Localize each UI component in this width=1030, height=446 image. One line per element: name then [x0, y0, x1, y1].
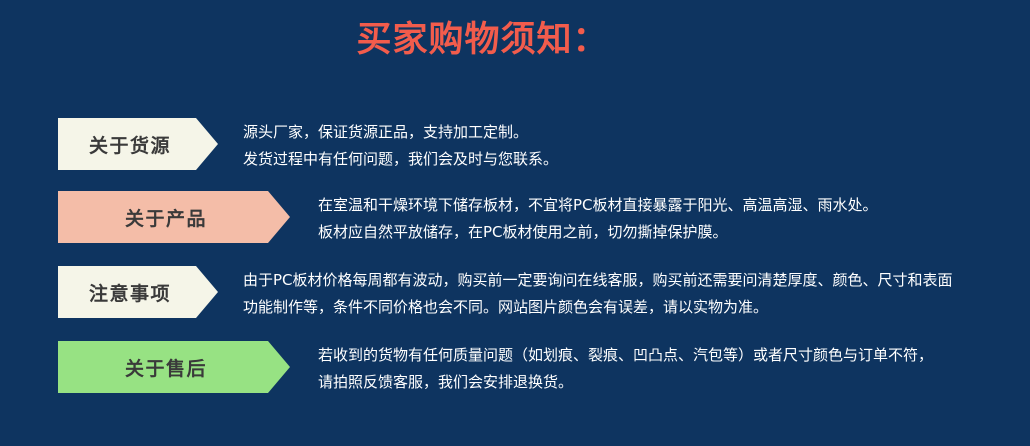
- section-label-text: 注意事项: [89, 279, 187, 306]
- body-text-line: 源头厂家，保证货源正品，支持加工定制。: [243, 119, 558, 146]
- notice-section: 关于售后 若收到的货物有任何质量问题（如划痕、裂痕、凹凸点、汽包等）或者尺寸颜色…: [0, 335, 1030, 407]
- section-label-banner-attention: 注意事项: [58, 266, 218, 318]
- section-body-text: 在室温和干燥环境下储存板材，不宜将PC板材直接暴露于阳光、高温高湿、雨水处。 板…: [318, 191, 878, 246]
- section-label-banner-aftersales: 关于售后: [58, 341, 290, 393]
- notice-section: 关于产品 在室温和干燥环境下储存板材，不宜将PC板材直接暴露于阳光、高温高湿、雨…: [0, 185, 1030, 257]
- notice-sections-list: 关于货源 源头厂家，保证货源正品，支持加工定制。 发货过程中有任何问题，我们会及…: [0, 110, 1030, 410]
- section-label-text: 关于货源: [89, 131, 187, 158]
- body-text-line: 在室温和干燥环境下储存板材，不宜将PC板材直接暴露于阳光、高温高湿、雨水处。: [318, 192, 878, 219]
- page-title: 买家购物须知：: [356, 18, 608, 62]
- notice-section-row: 注意事项 由于PC板材价格每周都有波动，购买前一定要询问在线客服，购买前还需要问…: [0, 266, 953, 321]
- title-area: 买家购物须知：: [0, 18, 1030, 62]
- body-text-line: 若收到的货物有任何质量问题（如划痕、裂痕、凹凸点、汽包等）或者尺寸颜色与订单不符…: [318, 342, 933, 369]
- notice-section-row: 关于售后 若收到的货物有任何质量问题（如划痕、裂痕、凹凸点、汽包等）或者尺寸颜色…: [0, 341, 933, 396]
- notice-section: 关于货源 源头厂家，保证货源正品，支持加工定制。 发货过程中有任何问题，我们会及…: [0, 110, 1030, 182]
- section-label-banner-product: 关于产品: [58, 191, 290, 243]
- notice-section: 注意事项 由于PC板材价格每周都有波动，购买前一定要询问在线客服，购买前还需要问…: [0, 260, 1030, 332]
- section-label-banner-source: 关于货源: [58, 118, 218, 170]
- buyer-notice-banner: 买家购物须知： 关于货源 源头厂家，保证货源正品，支持加工定制。 发货过程中有任…: [0, 0, 1030, 446]
- body-text-line: 请拍照反馈客服，我们会安排退换货。: [318, 369, 933, 396]
- body-text-line: 由于PC板材价格每周都有波动，购买前一定要询问在线客服，购买前还需要问清楚厚度、…: [243, 267, 953, 294]
- section-label-text: 关于售后: [125, 354, 223, 381]
- body-text-line: 功能制作等，条件不同价格也会不同。网站图片颜色会有误差，请以实物为准。: [243, 294, 953, 321]
- section-body-text: 源头厂家，保证货源正品，支持加工定制。 发货过程中有任何问题，我们会及时与您联系…: [243, 118, 558, 173]
- body-text-line: 板材应自然平放储存，在PC板材使用之前，切勿撕掉保护膜。: [318, 219, 878, 246]
- section-body-text: 若收到的货物有任何质量问题（如划痕、裂痕、凹凸点、汽包等）或者尺寸颜色与订单不符…: [318, 341, 933, 396]
- section-body-text: 由于PC板材价格每周都有波动，购买前一定要询问在线客服，购买前还需要问清楚厚度、…: [243, 266, 953, 321]
- notice-section-row: 关于货源 源头厂家，保证货源正品，支持加工定制。 发货过程中有任何问题，我们会及…: [0, 118, 558, 173]
- section-label-text: 关于产品: [125, 204, 223, 231]
- body-text-line: 发货过程中有任何问题，我们会及时与您联系。: [243, 146, 558, 173]
- notice-section-row: 关于产品 在室温和干燥环境下储存板材，不宜将PC板材直接暴露于阳光、高温高湿、雨…: [0, 191, 878, 246]
